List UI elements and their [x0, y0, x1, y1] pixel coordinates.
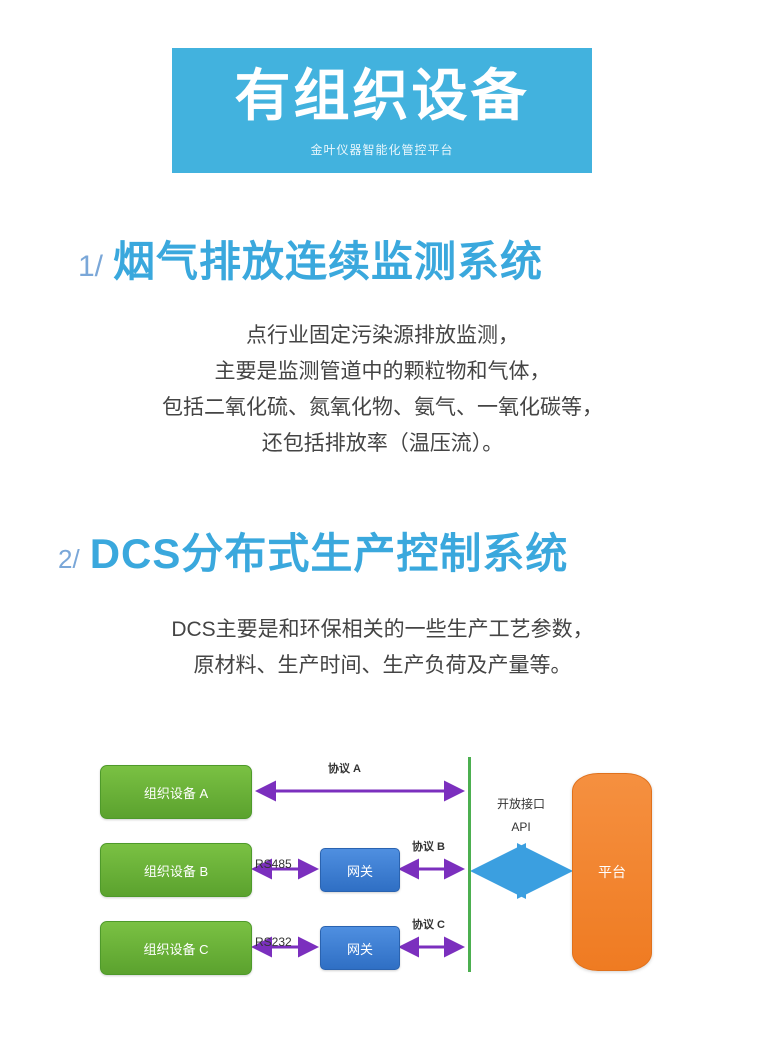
section-1-paragraph: 点行业固定污染源排放监测， 主要是监测管道中的颗粒物和气体， 包括二氧化硫、氮氧… [0, 318, 765, 462]
section-2-number: 2/ [58, 544, 80, 575]
section-heading-2: 2/ DCS分布式生产控制系统 [58, 520, 568, 581]
section-heading-1: 1/ 烟气排放连续监测系统 [78, 228, 543, 289]
section-2-paragraph: DCS主要是和环保相关的一些生产工艺参数， 原材料、生产时间、生产负荷及产量等。 [0, 612, 765, 684]
protocol-label-a: 协议 A [328, 760, 361, 776]
architecture-diagram: 组织设备 A 组织设备 B 组织设备 C 网关 网关 开放接口 API 平台 协… [0, 745, 765, 995]
gateway-box-c[interactable]: 网关 [320, 926, 400, 970]
section-1-number: 1/ [78, 250, 103, 284]
protocol-label-c: 协议 C [412, 916, 445, 932]
protocol-label-b: 协议 B [412, 838, 445, 854]
header-banner: 有组织设备 金叶仪器智能化管控平台 [172, 48, 592, 173]
platform-box[interactable]: 平台 [572, 773, 652, 971]
boundary-divider-line [468, 757, 471, 972]
paragraph-line: DCS主要是和环保相关的一些生产工艺参数， [0, 612, 765, 648]
open-interface-line1: 开放接口 [478, 793, 564, 816]
section-1-title: 烟气排放连续监测系统 [113, 228, 543, 289]
open-interface-label: 开放接口 API [478, 793, 564, 839]
device-box-c[interactable]: 组织设备 C [100, 921, 252, 975]
paragraph-line: 包括二氧化硫、氮氧化物、氨气、一氧化碳等， [0, 390, 765, 426]
open-interface-line2: API [478, 816, 564, 839]
banner-subtitle: 金叶仪器智能化管控平台 [310, 141, 453, 158]
device-box-b[interactable]: 组织设备 B [100, 843, 252, 897]
section-2-title: DCS分布式生产控制系统 [90, 520, 569, 581]
paragraph-line: 点行业固定污染源排放监测， [0, 318, 765, 354]
paragraph-line: 还包括排放率（温压流）。 [0, 426, 765, 462]
paragraph-line: 原材料、生产时间、生产负荷及产量等。 [0, 648, 765, 684]
paragraph-line: 主要是监测管道中的颗粒物和气体， [0, 354, 765, 390]
banner-title: 有组织设备 [235, 67, 530, 126]
device-box-a[interactable]: 组织设备 A [100, 765, 252, 819]
bus-label-rs485: RS485 [255, 857, 292, 871]
gateway-box-b[interactable]: 网关 [320, 848, 400, 892]
bus-label-rs232: RS232 [255, 935, 292, 949]
